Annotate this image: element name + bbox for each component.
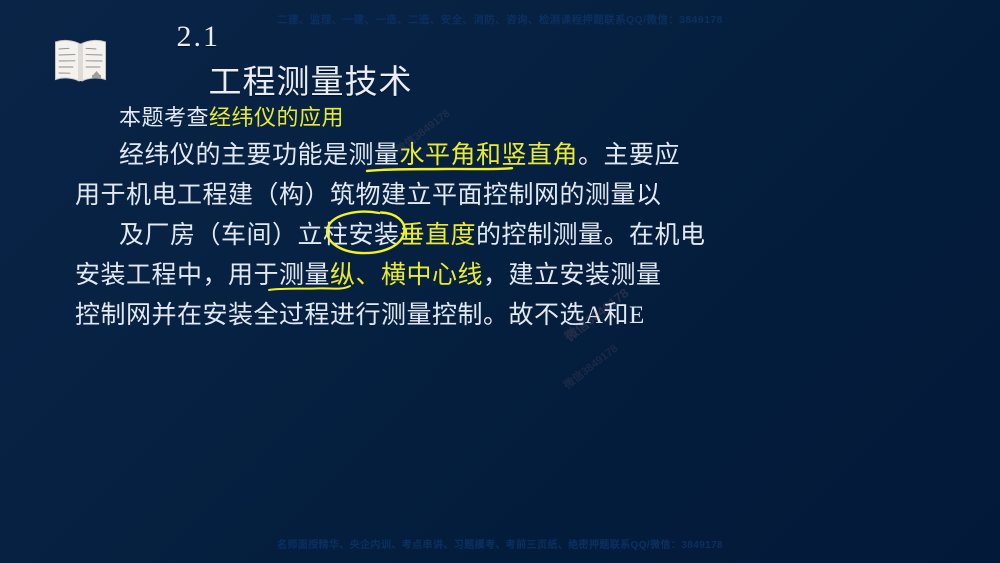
watermark-3: 微信3849178 [560, 340, 621, 393]
slide-body: 本题考查经纬仪的应用 经纬仪的主要功能是测量水平角和竖直角。主要应 用于机电工程… [75, 100, 655, 336]
body-line-1-part-a: 经纬仪的主要功能是测量 [119, 142, 400, 169]
open-book-icon [52, 37, 109, 84]
body-line-4-highlight: 纵、横中心线 [330, 262, 483, 289]
body-line-3-part-a: 及厂房（车间）立柱安装 [119, 222, 400, 249]
body-line-1-part-c: 。主要应 [578, 142, 680, 169]
slide-title-number: 2.1 [177, 20, 221, 53]
exam-point-line: 本题考查经纬仪的应用 [75, 100, 655, 136]
exam-point-prefix: 本题考查 [119, 105, 209, 130]
body-line-4-part-d: ，建立安装测量 [483, 262, 662, 289]
bottom-promo-banner: 名师面授精华、央企内训、考点串讲、习题模考、考前三页纸、绝密押题联系QQ/微信：… [0, 536, 1000, 551]
body-line-2: 用于机电工程建（构）筑物建立平面控制网的测量以 [75, 176, 655, 216]
slide-root: 二建、监理、一建、一造、二造、安全、消防、咨询、检测课程押题联系QQ/微信：38… [0, 0, 1000, 563]
body-line-4: 安装工程中，用于测量纵、横中心线，建立安装测量 [75, 256, 655, 296]
slide-title-label: 工程测量技术 [209, 65, 413, 101]
body-line-3-highlight: 垂直度 [400, 222, 477, 249]
body-line-3-part-c: 的控制测量。在机电 [476, 222, 706, 249]
body-line-4-part-b: 测量 [279, 262, 330, 289]
body-line-1: 经纬仪的主要功能是测量水平角和竖直角。主要应 [75, 136, 655, 176]
body-line-3: 及厂房（车间）立柱安装垂直度的控制测量。在机电 [75, 216, 655, 256]
slide-header: 2.1 工程测量技术 [52, 34, 413, 86]
body-line-4-part-a: 安装工程中，用于 [75, 262, 279, 289]
exam-point-highlight: 经纬仪的应用 [209, 105, 344, 130]
body-line-1-highlight: 水平角和竖直角 [400, 142, 579, 169]
